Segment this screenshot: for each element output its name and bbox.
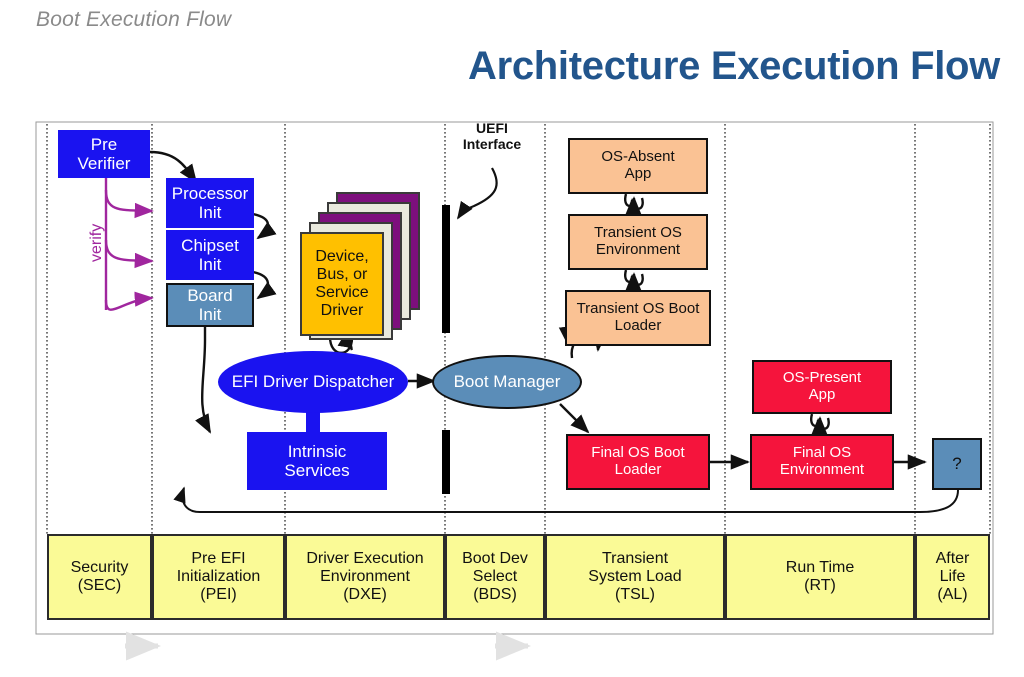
node-transient-os-boot-loader[interactable]: Transient OS Boot Loader <box>565 290 711 346</box>
phase-rt-line2: (RT) <box>783 577 857 595</box>
phase-sec-line2: (SEC) <box>68 577 132 595</box>
phase-bds-line1: Boot Dev <box>459 550 531 568</box>
phase-al-line1: After <box>933 550 973 568</box>
phase-dxe-line2: Environment <box>303 568 426 586</box>
node-boot-manager[interactable]: Boot Manager <box>432 355 582 409</box>
os-present-line2: App <box>780 387 864 404</box>
node-transient-os-environment[interactable]: Transient OS Environment <box>568 214 708 270</box>
node-final-os-boot-loader[interactable]: Final OS Boot Loader <box>566 434 710 490</box>
transient-env-line2: Environment <box>591 242 685 259</box>
os-absent-line2: App <box>598 166 677 183</box>
node-chipset-init[interactable]: Chipset Init <box>166 230 254 280</box>
driver-card-line1: Device, <box>312 248 371 266</box>
phase-bds-line2: Select <box>459 568 531 586</box>
final-env-line1: Final OS <box>777 445 867 462</box>
boot-manager-line2: Manager <box>493 372 560 391</box>
chipset-init-line1: Chipset <box>178 236 242 255</box>
node-final-os-environment[interactable]: Final OS Environment <box>750 434 894 490</box>
board-init-line1: Board <box>184 286 235 305</box>
driver-card-line4: Driver <box>312 302 371 320</box>
processor-init-line2: Init <box>169 203 252 222</box>
final-bl-line1: Final OS Boot <box>588 445 687 462</box>
driver-card-line3: Service <box>312 284 371 302</box>
processor-init-line1: Processor <box>169 184 252 203</box>
phase-tsl-line3: (TSL) <box>585 586 684 604</box>
os-present-line1: OS-Present <box>780 370 864 387</box>
node-os-absent-app[interactable]: OS-Absent App <box>568 138 708 194</box>
phase-dxe-line3: (DXE) <box>303 586 426 604</box>
pre-verifier-line2: Verifier <box>75 154 134 173</box>
final-bl-line2: Loader <box>588 462 687 479</box>
node-driver-card[interactable]: Device, Bus, or Service Driver <box>300 232 384 336</box>
transient-env-line1: Transient OS <box>591 225 685 242</box>
dispatcher-line2: Dispatcher <box>313 372 394 391</box>
intrinsic-line1: Intrinsic <box>281 442 352 461</box>
driver-card-line2: Bus, or <box>312 266 371 284</box>
phase-al-line2: Life <box>933 568 973 586</box>
phase-rt-line1: Run Time <box>783 559 857 577</box>
phase-al-line3: (AL) <box>933 586 973 604</box>
phase-cell-sec[interactable]: Security (SEC) <box>47 534 152 620</box>
phase-dxe-line1: Driver Execution <box>303 550 426 568</box>
uefi-label-line2: Interface <box>447 136 537 152</box>
node-after-life-unknown[interactable]: ? <box>932 438 982 490</box>
phase-cell-al[interactable]: After Life (AL) <box>915 534 990 620</box>
slide-title: Architecture Execution Flow <box>468 44 1000 89</box>
node-pre-verifier[interactable]: Pre Verifier <box>58 130 150 178</box>
phase-bds-line3: (BDS) <box>459 586 531 604</box>
phase-cell-rt[interactable]: Run Time (RT) <box>725 534 915 620</box>
chipset-init-line2: Init <box>178 255 242 274</box>
slide-subtitle: Boot Execution Flow <box>36 8 231 32</box>
node-os-present-app[interactable]: OS-Present App <box>752 360 892 414</box>
phase-sec-line1: Security <box>68 559 132 577</box>
uefi-interface-bar-top <box>442 205 450 333</box>
node-board-init[interactable]: Board Init <box>166 283 254 327</box>
phase-cell-bds[interactable]: Boot Dev Select (BDS) <box>445 534 545 620</box>
unknown-label: ? <box>949 454 964 473</box>
uefi-interface-bar-bottom <box>442 430 450 494</box>
phase-cell-dxe[interactable]: Driver Execution Environment (DXE) <box>285 534 445 620</box>
transient-bl-line1: Transient OS Boot <box>574 301 703 318</box>
uefi-label-line1: UEFI <box>447 120 537 136</box>
board-init-line2: Init <box>184 305 235 324</box>
phase-pei-line1: Pre EFI <box>174 550 264 568</box>
dispatcher-line1: EFI Driver <box>232 372 309 391</box>
final-env-line2: Environment <box>777 462 867 479</box>
phase-cell-tsl[interactable]: Transient System Load (TSL) <box>545 534 725 620</box>
uefi-interface-label: UEFI Interface <box>447 120 537 152</box>
node-intrinsic-services[interactable]: Intrinsic Services <box>247 432 387 490</box>
phase-tsl-line1: Transient <box>585 550 684 568</box>
phase-cell-pei[interactable]: Pre EFI Initialization (PEI) <box>152 534 285 620</box>
phase-pei-line2: Initialization <box>174 568 264 586</box>
os-absent-line1: OS-Absent <box>598 149 677 166</box>
node-efi-driver-dispatcher[interactable]: EFI Driver Dispatcher <box>218 351 408 413</box>
pre-verifier-line1: Pre <box>75 135 134 154</box>
intrinsic-line2: Services <box>281 461 352 480</box>
phase-tsl-line2: System Load <box>585 568 684 586</box>
phase-pei-line3: (PEI) <box>174 586 264 604</box>
boot-manager-line1: Boot <box>454 372 489 391</box>
verify-label: verify <box>88 224 106 262</box>
node-processor-init[interactable]: Processor Init <box>166 178 254 228</box>
transient-bl-line2: Loader <box>574 318 703 335</box>
